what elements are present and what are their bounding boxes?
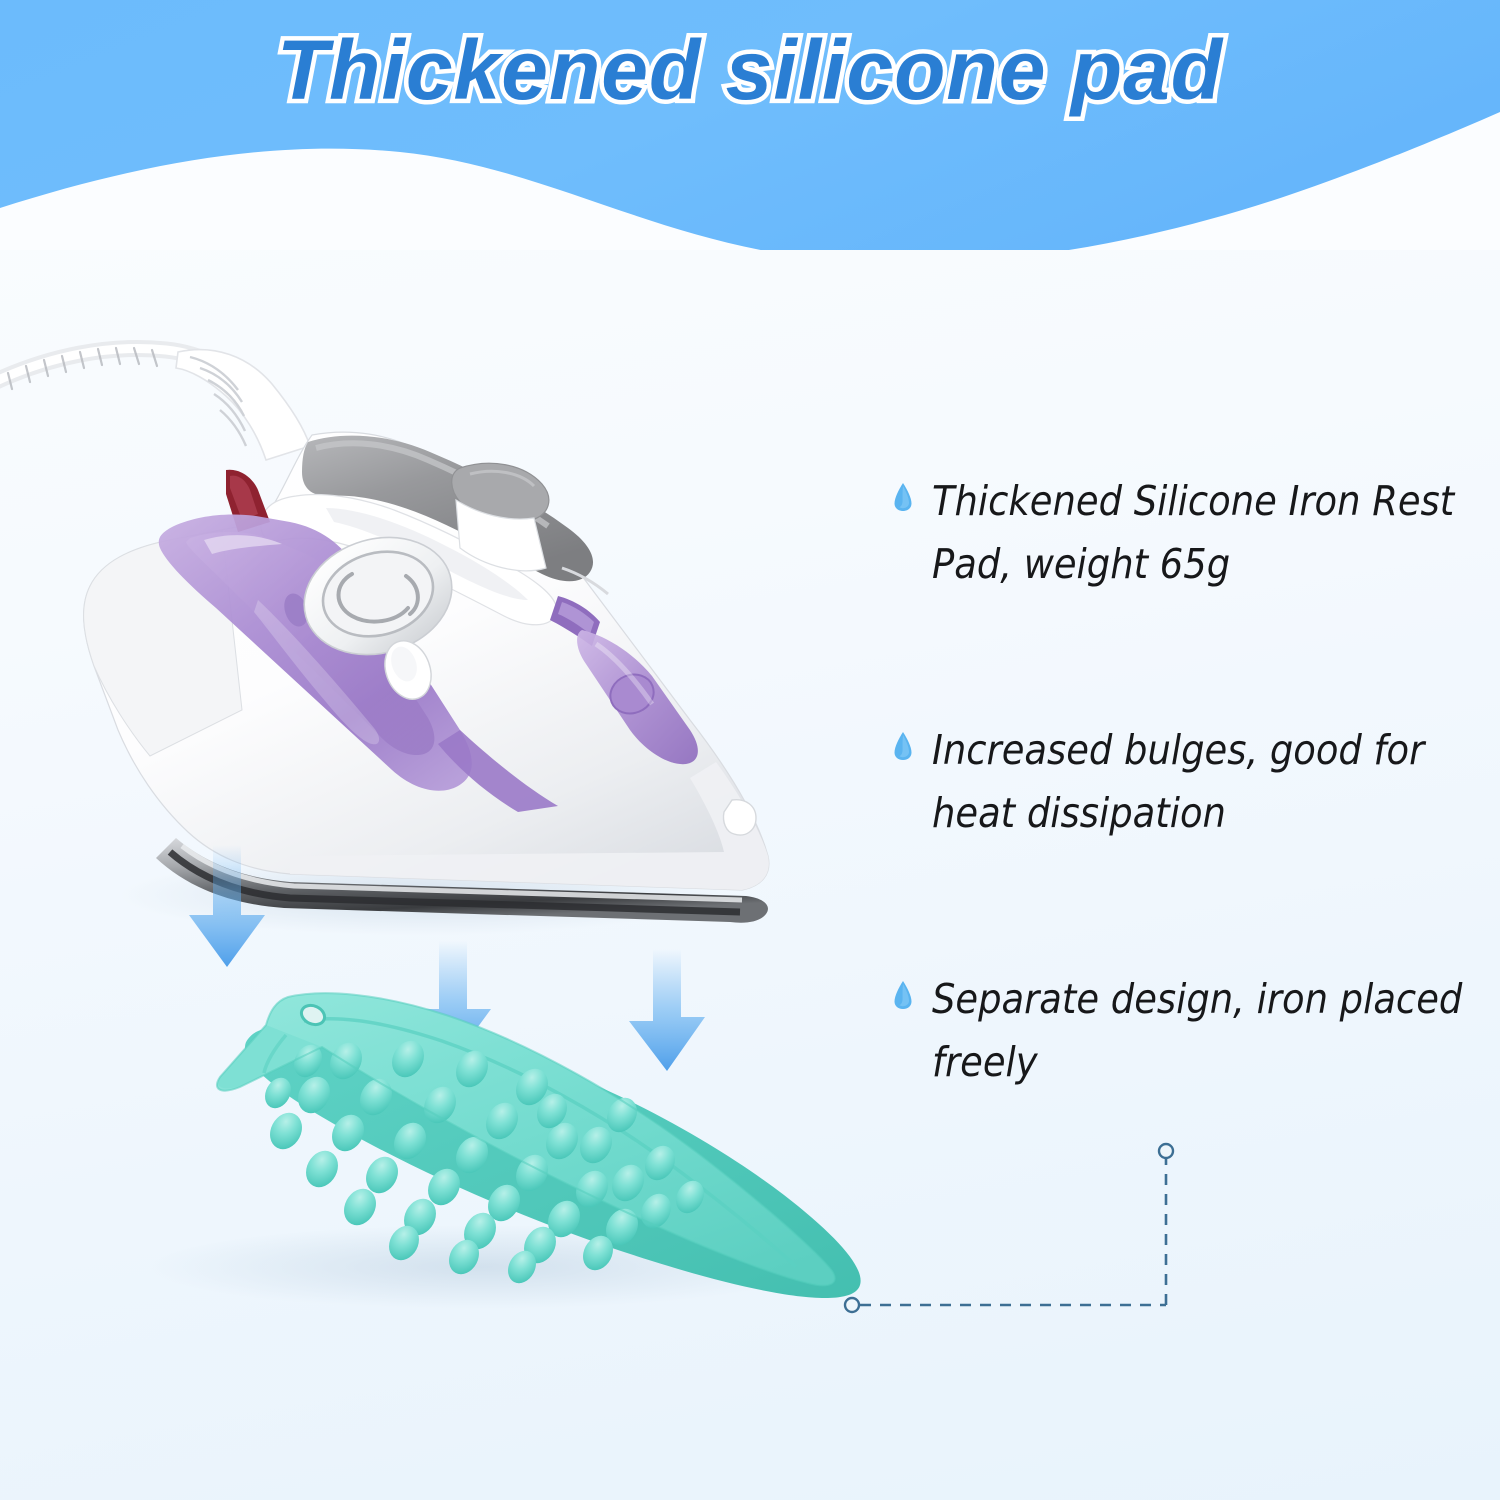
dimension-endpoint-left [845, 1298, 859, 1312]
feature-item-3: Separate design, iron placed freely [893, 968, 1483, 1094]
steam-iron-image [0, 300, 850, 940]
page-title: Thickened silicone pad [0, 18, 1500, 122]
arrow-1 [189, 845, 265, 967]
feature-item-1: Thickened Silicone Iron Rest Pad, weight… [893, 470, 1483, 596]
iron-soleplate-bullet-icon [893, 731, 913, 761]
infographic-page: Thickened silicone pad [0, 0, 1500, 1500]
feature-item-2: Increased bulges, good for heat dissipat… [893, 719, 1483, 845]
dimension-guide [830, 1125, 1230, 1340]
cord-boot [176, 350, 310, 460]
header-banner: Thickened silicone pad [0, 0, 1500, 250]
iron-soleplate-bullet-icon [893, 980, 913, 1010]
feature-text: Thickened Silicone Iron Rest Pad, weight… [932, 470, 1477, 596]
iron-soleplate-bullet-icon [893, 482, 913, 512]
water-fill-cap [723, 800, 756, 835]
silicone-iron-rest-pad-image [60, 975, 890, 1315]
feature-text: Separate design, iron placed freely [932, 968, 1477, 1094]
feature-text: Increased bulges, good for heat dissipat… [932, 719, 1477, 845]
dimension-endpoint-top [1159, 1144, 1173, 1158]
feature-list: Thickened Silicone Iron Rest Pad, weight… [893, 470, 1483, 1094]
